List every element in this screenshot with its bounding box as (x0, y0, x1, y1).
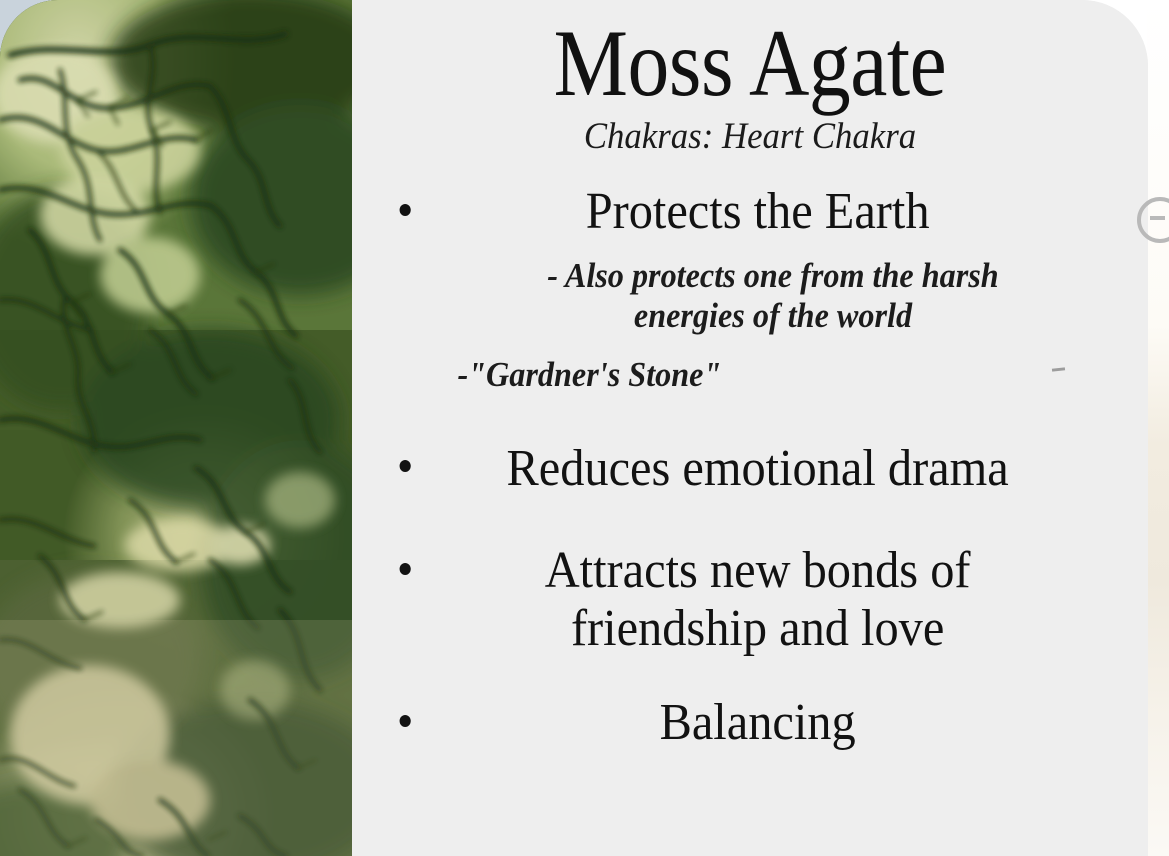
bullet-dot-icon (400, 715, 411, 727)
chakra-subtitle: Chakras: Heart Chakra (376, 117, 1124, 158)
spacer (394, 498, 1140, 542)
bullet-dot-icon (400, 563, 411, 575)
bullet-label-line-2: friendship and love (571, 600, 944, 657)
list-item: Reduces emotional drama (394, 440, 1088, 498)
page-backdrop-right (1147, 0, 1169, 856)
sub-properties-list: - Also protects one from the harsh energ… (394, 256, 1140, 396)
sub-list-item: -"Gardner's Stone" (437, 355, 1109, 396)
spacer (408, 337, 1138, 355)
screenshot-stage: Moss Agate Chakras: Heart Chakra Protect… (0, 0, 1169, 856)
spacer (394, 396, 1140, 440)
list-item: Attracts new bonds of friendship and lov… (394, 542, 1088, 658)
sub-list-item: - Also protects one from the harsh energ… (437, 256, 1109, 337)
bullet-label: Balancing (660, 694, 856, 752)
bullet-label: Protects the Earth (586, 183, 930, 241)
spacer (394, 658, 1140, 694)
bullet-label-line-1: Attracts new bonds of (545, 542, 971, 599)
sub-bullet-line-2: energies of the world (634, 296, 912, 335)
crystal-info-card: Moss Agate Chakras: Heart Chakra Protect… (0, 0, 1148, 856)
page-title: Moss Agate (400, 0, 1100, 113)
list-item: Protects the Earth (394, 183, 1088, 241)
moss-agate-stone-image (0, 0, 352, 856)
crystal-text-panel: Moss Agate Chakras: Heart Chakra Protect… (352, 0, 1148, 856)
bullet-dot-icon (400, 460, 411, 472)
list-item: Balancing (394, 694, 1088, 752)
sub-bullet-gardners-stone: -"Gardner's Stone" (457, 355, 721, 394)
properties-list: Protects the Earth - Also protects one f… (352, 183, 1148, 752)
bullet-label: Reduces emotional drama (507, 440, 1009, 498)
sub-bullet-line-1: - Also protects one from the harsh (547, 256, 998, 295)
stone-artwork (0, 0, 352, 856)
bullet-dot-icon (400, 204, 411, 216)
